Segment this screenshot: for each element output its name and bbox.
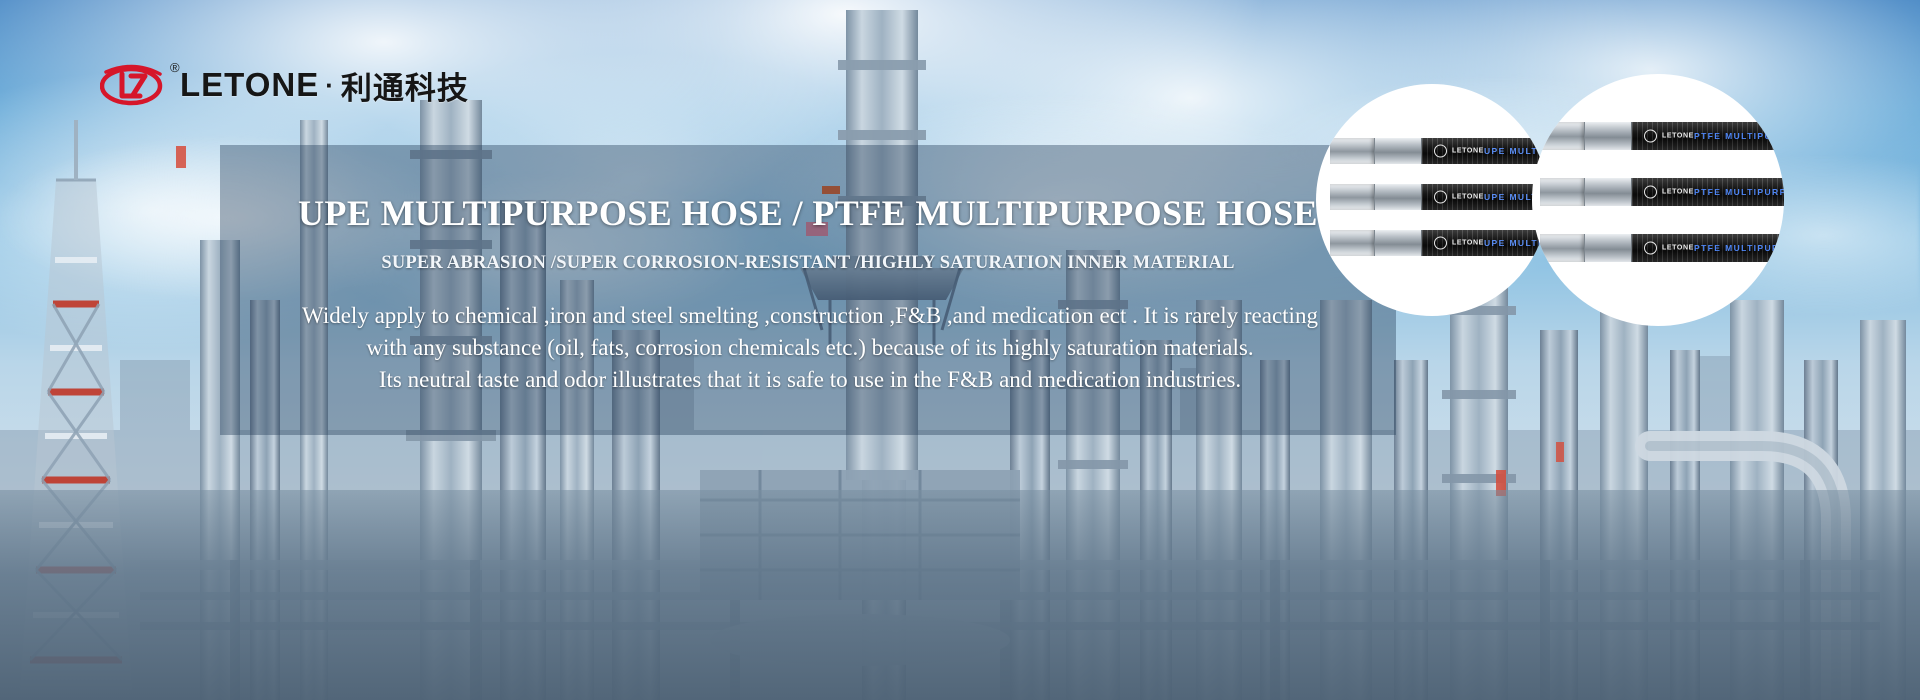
hose-brand-stamp: LETONE [1644,242,1694,255]
registered-trademark-icon: ® [170,60,180,75]
camlock-fitting-icon [1540,178,1585,206]
hose-brand-stamp: LETONE [1434,191,1484,204]
hose-tube: LETONE UPE MULTIPURPOSE [1422,138,1548,164]
brand-logo[interactable]: ® LETONE · 利通科技 [100,62,469,108]
brand-name-en: LETONE [180,66,319,104]
hose-item: LETONE PTFE MULTIPURPOSE HOSE [1540,178,1784,206]
hose-brand-stamp: LETONE [1644,186,1694,199]
hose-tube: LETONE PTFE MULTIPURPOSE HOSE [1632,234,1784,262]
hose-brand-stamp: LETONE [1434,237,1484,250]
hose-brand-text: LETONE [1662,245,1694,252]
letone-oval-mark: ® [100,62,166,108]
hose-brand-stamp: LETONE [1644,130,1694,143]
hose-item: LETONE UPE MULTIPURPOSE [1330,138,1548,164]
hose-label-text: UPE MULTIPURPOSE [1484,146,1548,156]
ferrule-icon [1375,230,1422,256]
hose-tube: LETONE PTFE MULTIPURPOSE HOSE [1632,178,1784,206]
product-image-ptfe-multipurpose-hose[interactable]: LETONE PTFE MULTIPURPOSE HOSE LETONE PTF… [1532,74,1784,326]
product-image-upe-multipurpose-hose[interactable]: LETONE UPE MULTIPURPOSE LETONE UPE MULTI… [1316,84,1548,316]
product-banner: ® LETONE · 利通科技 UPE MULTIPURPOSE HOSE / … [0,0,1920,700]
hose-tube: LETONE UPE MULTIPURPOSE [1422,230,1548,256]
ferrule-icon [1585,122,1632,150]
brand-separator: · [323,70,337,101]
brand-wordmark: LETONE · 利通科技 [180,63,469,108]
camlock-fitting-icon [1330,138,1375,164]
body-line-2: with any substance (oil, fats, corrosion… [230,332,1390,364]
hose-label-text: PTFE MULTIPURPOSE HOSE [1694,243,1784,253]
camlock-fitting-icon [1330,184,1375,210]
ferrule-icon [1585,234,1632,262]
hose-label-text: PTFE MULTIPURPOSE HOSE [1694,131,1784,141]
hero-body-copy: Widely apply to chemical ,iron and steel… [230,300,1390,396]
body-line-1: Widely apply to chemical ,iron and steel… [230,300,1390,332]
hose-tube: LETONE PTFE MULTIPURPOSE HOSE [1632,122,1784,150]
ferrule-icon [1375,138,1422,164]
hose-item: LETONE PTFE MULTIPURPOSE HOSE [1540,234,1784,262]
hose-brand-text: LETONE [1662,189,1694,196]
letone-mark-icon [1644,186,1657,199]
hose-brand-stamp: LETONE [1434,145,1484,158]
hose-item: LETONE UPE MULTIPURPOSE [1330,184,1548,210]
letone-mark-icon [1434,191,1447,204]
hose-brand-text: LETONE [1452,148,1484,155]
letone-mark-icon [1434,145,1447,158]
hose-tube: LETONE UPE MULTIPURPOSE [1422,184,1548,210]
hero-subheadline: SUPER ABRASION /SUPER CORROSION-RESISTAN… [220,253,1396,274]
hose-label-text: PTFE MULTIPURPOSE HOSE [1694,187,1784,197]
hose-item: LETONE UPE MULTIPURPOSE [1330,230,1548,256]
ferrule-icon [1375,184,1422,210]
ground-haze [0,490,1920,700]
ferrule-icon [1585,178,1632,206]
letone-mark-icon [1644,242,1657,255]
body-line-3: Its neutral taste and odor illustrates t… [230,364,1390,396]
brand-name-cn: 利通科技 [341,63,469,108]
hose-brand-text: LETONE [1452,194,1484,201]
hose-brand-text: LETONE [1452,240,1484,247]
hose-item: LETONE PTFE MULTIPURPOSE HOSE [1540,122,1784,150]
hero-headline: UPE MULTIPURPOSE HOSE / PTFE MULTIPURPOS… [220,192,1396,234]
letone-mark-icon [1434,237,1447,250]
camlock-fitting-icon [1540,122,1585,150]
camlock-fitting-icon [1540,234,1585,262]
hose-brand-text: LETONE [1662,133,1694,140]
camlock-fitting-icon [1330,230,1375,256]
letone-mark-icon [1644,130,1657,143]
